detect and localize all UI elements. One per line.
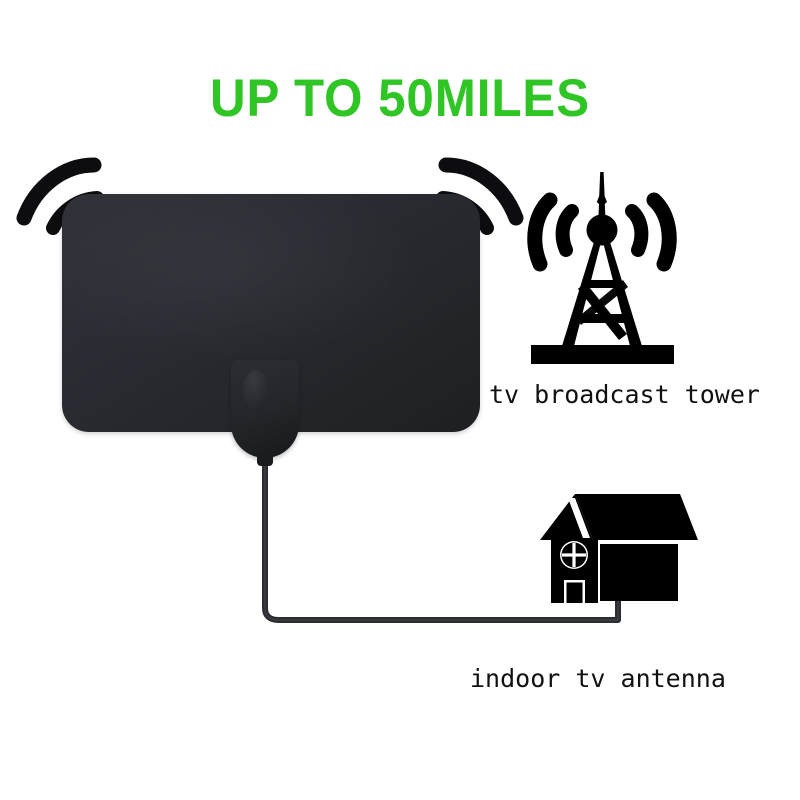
product-infographic-canvas: UP TO 50MILES — [0, 0, 800, 800]
antenna-connector — [231, 360, 299, 458]
house-icon — [520, 488, 700, 608]
label-tv-broadcast-tower: tv broadcast tower — [489, 380, 760, 410]
broadcast-tower-icon — [515, 168, 690, 368]
cable-strain-relief — [257, 450, 273, 466]
label-indoor-tv-antenna: indoor tv antenna — [470, 664, 726, 694]
